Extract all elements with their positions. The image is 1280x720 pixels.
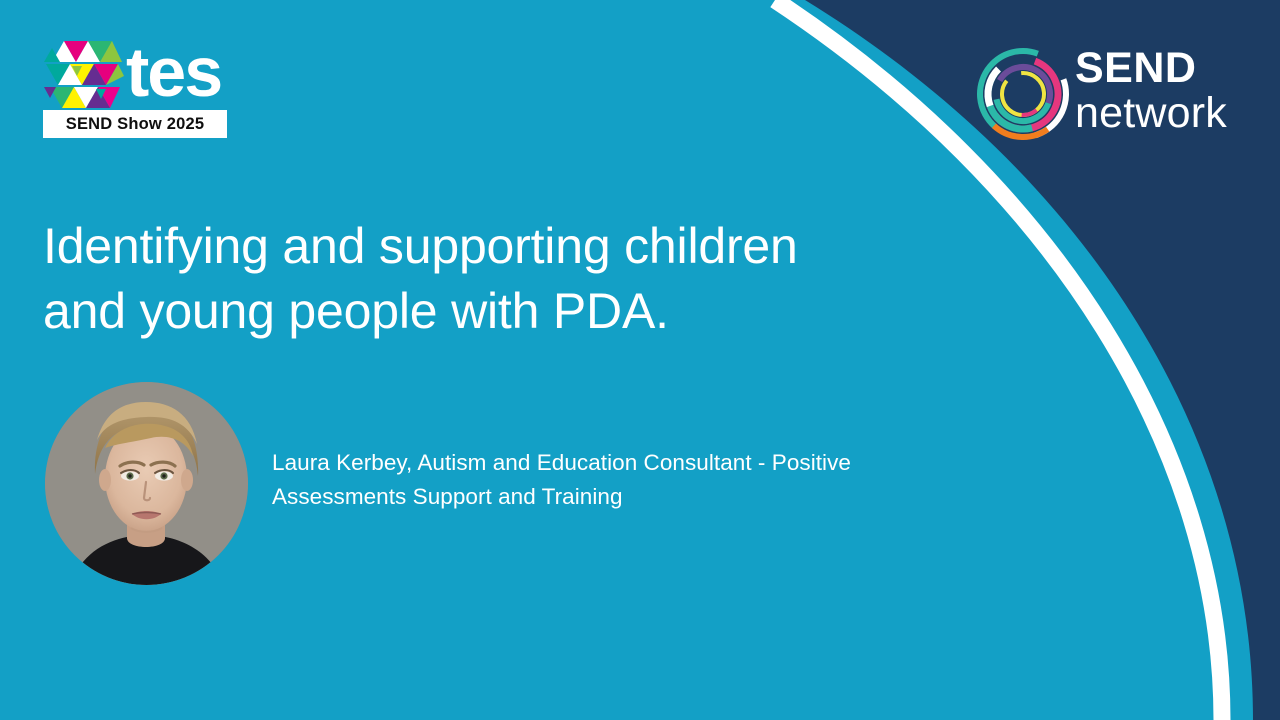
- send-wordmark-line1: SEND: [1075, 47, 1196, 90]
- speaker-avatar: [45, 382, 248, 585]
- speaker-credit-line-2: Assessments Support and Training: [272, 480, 1012, 514]
- send-network-logo: SEND network: [975, 44, 1227, 144]
- send-show-badge-label: SEND Show 2025: [66, 115, 205, 134]
- slide-title-line-1: Identifying and supporting children: [43, 214, 923, 279]
- tes-triangles-icon: [42, 38, 124, 112]
- speaker-credit-line-1: Laura Kerbey, Autism and Education Consu…: [272, 446, 1012, 480]
- tes-logo: tes SEND Show 2025: [42, 38, 238, 142]
- send-network-ring-icon: [975, 46, 1071, 142]
- send-wordmark-line2: network: [1075, 92, 1227, 135]
- slide-title-line-2: and young people with PDA.: [43, 279, 923, 344]
- slide-title: Identifying and supporting children and …: [43, 214, 923, 344]
- send-network-wordmark: SEND network: [1075, 44, 1227, 144]
- send-show-badge: SEND Show 2025: [43, 110, 227, 138]
- speaker-credit: Laura Kerbey, Autism and Education Consu…: [272, 446, 1012, 514]
- tes-wordmark: tes: [126, 34, 238, 114]
- tes-wordmark-text: tes: [126, 34, 221, 111]
- speaker-portrait-image: [45, 382, 248, 585]
- presentation-slide: tes SEND Show 2025: [0, 0, 1280, 720]
